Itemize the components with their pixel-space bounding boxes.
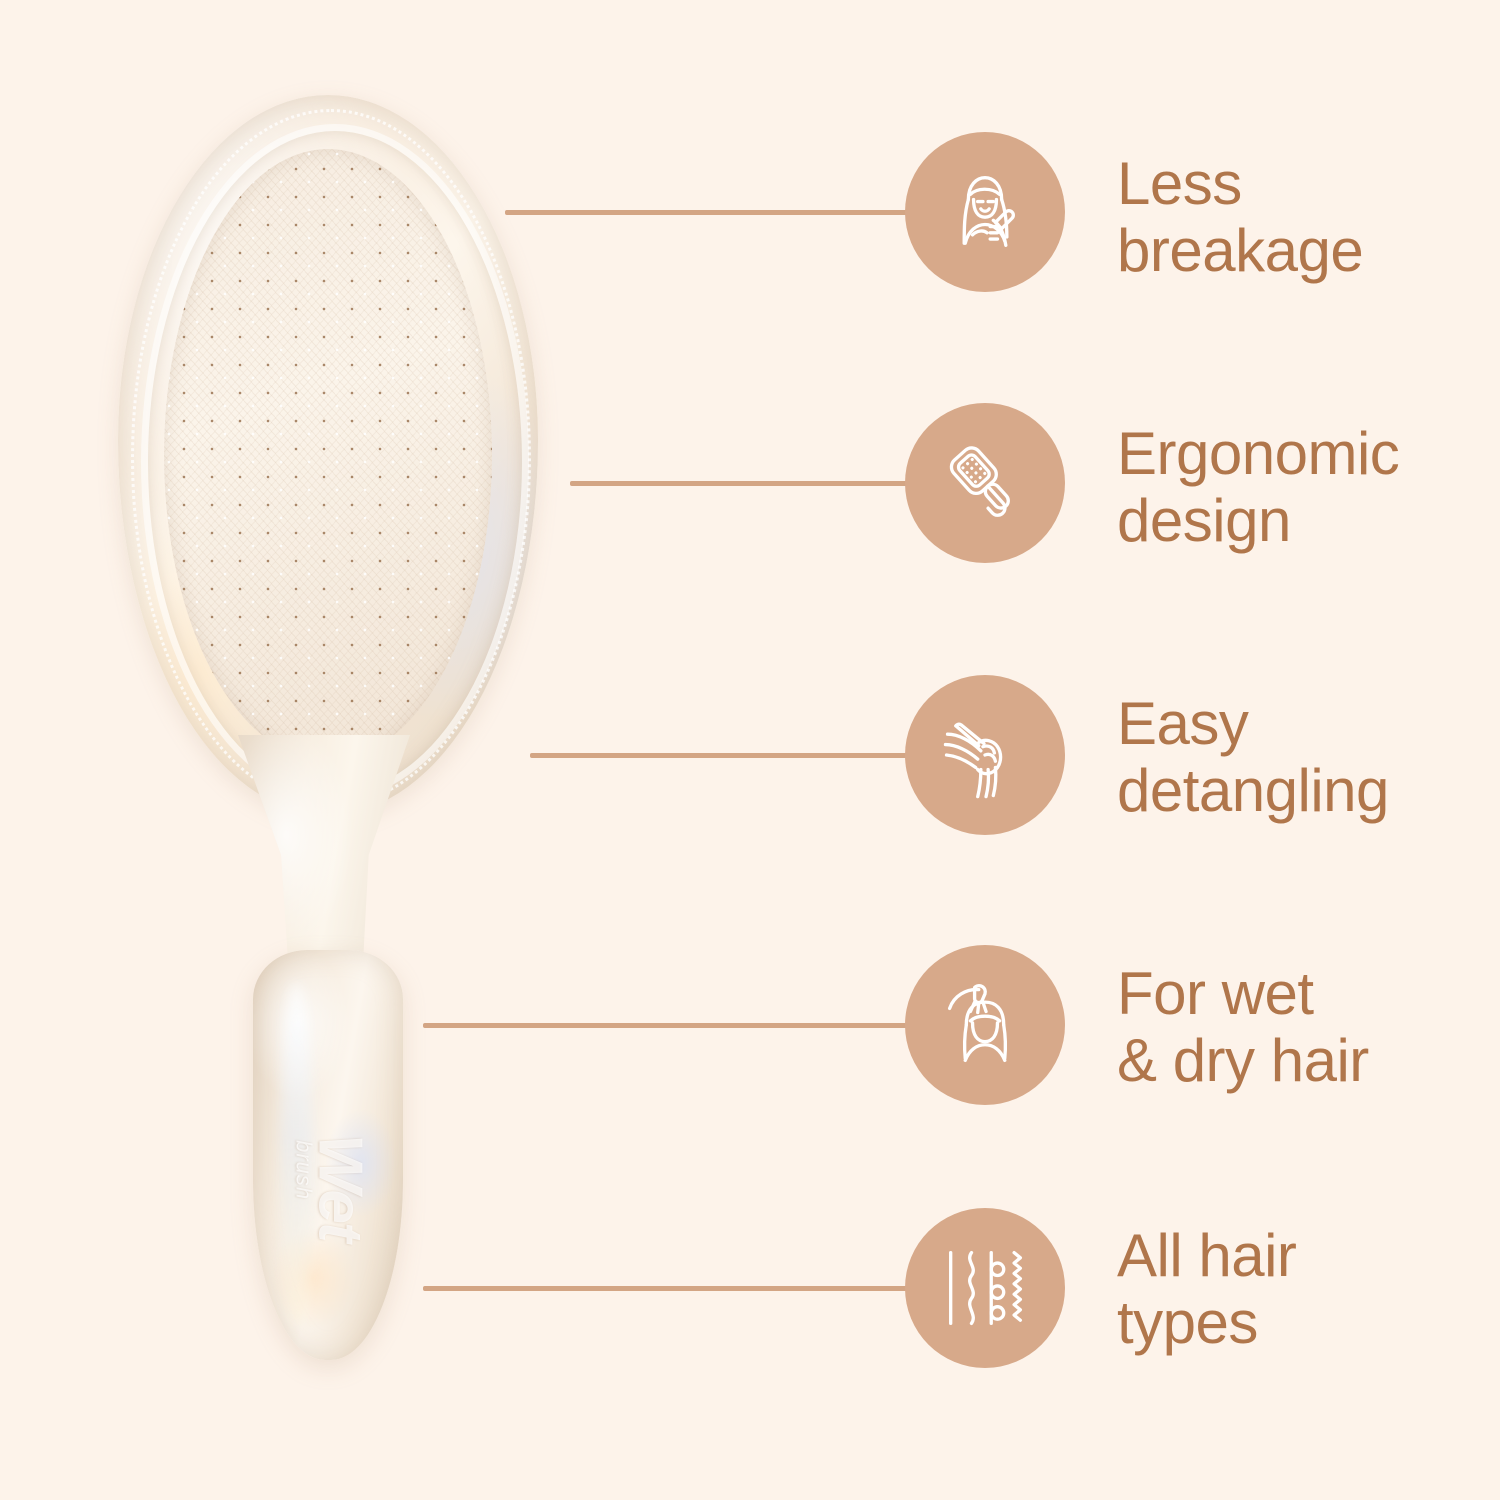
wet-dry-hair-icon-circle [905, 945, 1065, 1105]
all-hair-types-icon-circle [905, 1208, 1065, 1368]
feature-label-4: For wet & dry hair [1117, 960, 1369, 1094]
ergonomic-design-icon-circle [905, 403, 1065, 563]
connector-line-1 [505, 210, 917, 215]
brush-handle: Wet brush [253, 950, 403, 1360]
feature-label-3: Easy detangling [1117, 690, 1389, 824]
brush-neck [238, 735, 410, 985]
bristle-fringe [131, 109, 532, 806]
less-breakage-icon-circle [905, 132, 1065, 292]
hand-detangling-hair-icon [933, 703, 1037, 807]
brand-name-main: Wet [313, 1134, 366, 1241]
handle-iridescent-sheen [280, 983, 313, 1327]
connector-line-2 [570, 481, 917, 486]
woman-brushing-hair-icon [933, 160, 1037, 264]
connector-line-5 [423, 1286, 917, 1291]
infographic-canvas: Wet brush [0, 0, 1500, 1500]
feature-label-2: Ergonomic design [1117, 420, 1399, 554]
connector-line-3 [530, 753, 917, 758]
showerhead-over-head-icon [933, 973, 1037, 1077]
hair-texture-types-icon [933, 1236, 1037, 1340]
connector-line-4 [423, 1023, 917, 1028]
easy-detangling-icon-circle [905, 675, 1065, 835]
paddle-brush-icon [933, 431, 1037, 535]
feature-label-1: Less breakage [1117, 150, 1363, 284]
brush-head [118, 95, 538, 815]
feature-label-5: All hair types [1117, 1222, 1296, 1356]
product-image-hair-brush: Wet brush [110, 95, 580, 1355]
